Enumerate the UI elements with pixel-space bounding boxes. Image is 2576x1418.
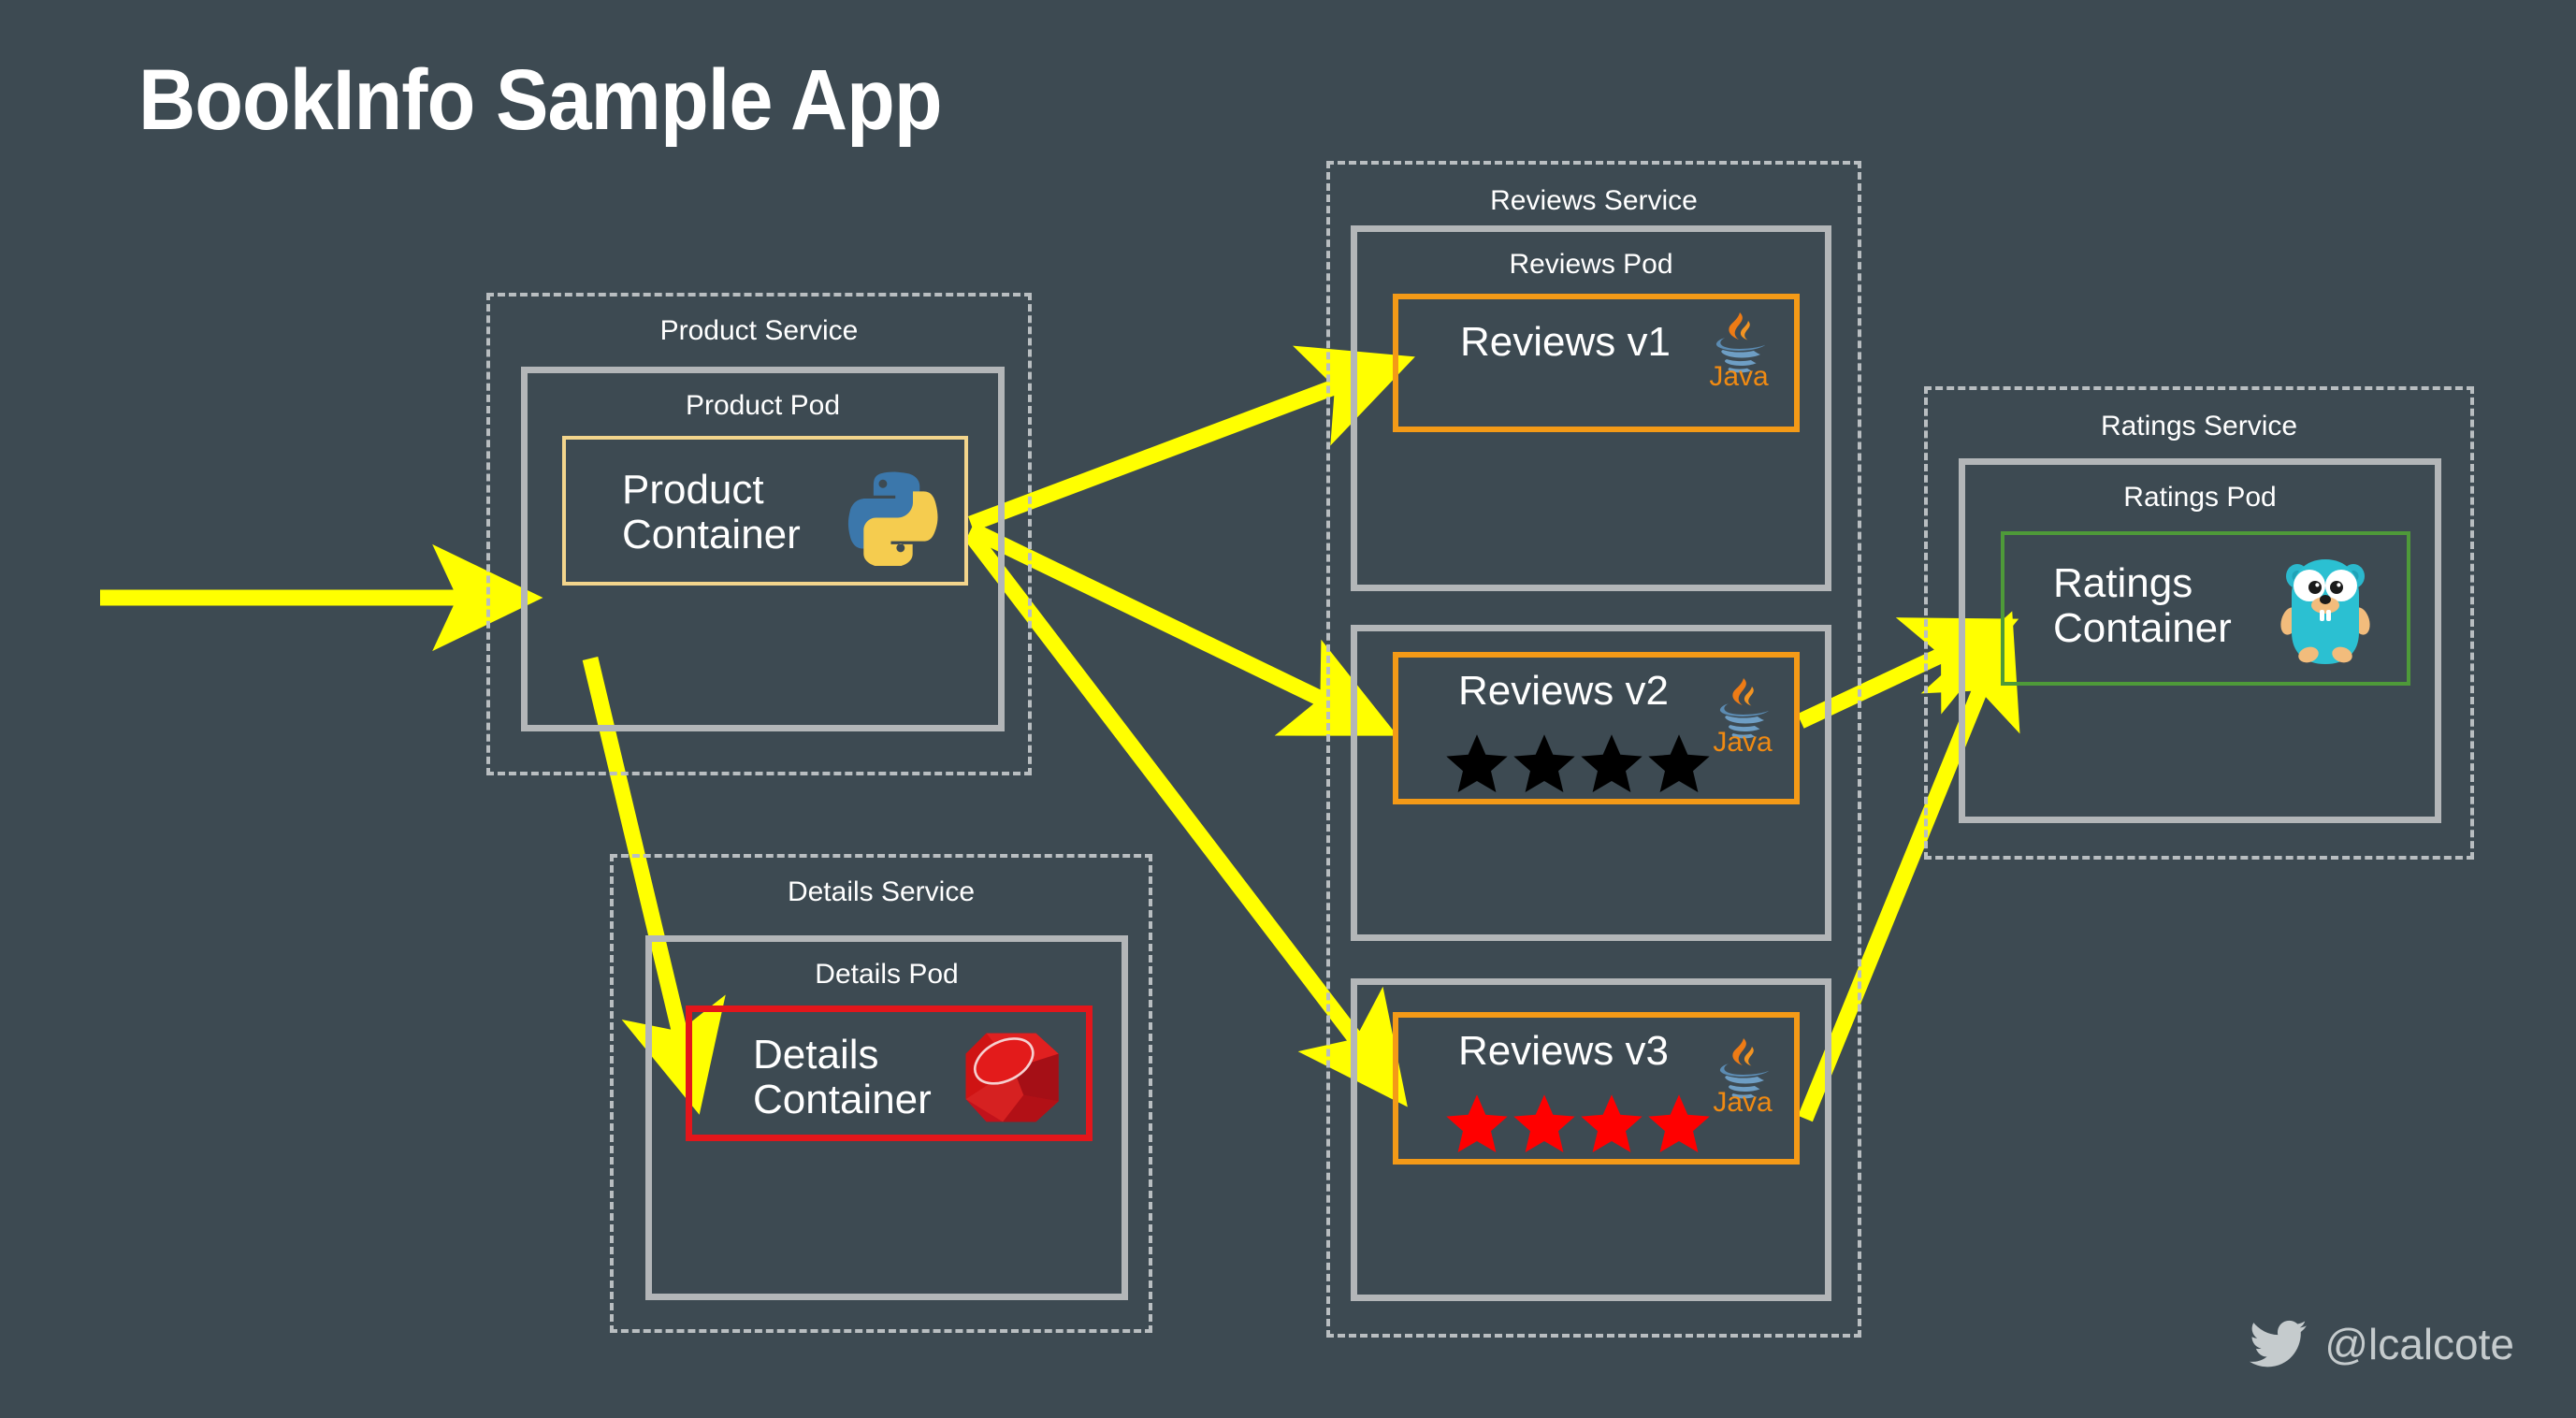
- python-logo-icon: [845, 465, 946, 566]
- service-details-label: Details Service: [614, 876, 1149, 908]
- arrow-product-to-reviews-v2: [971, 529, 1377, 726]
- stars-reviews-v2: [1443, 731, 1713, 798]
- star-icon: [1578, 731, 1645, 798]
- container-ratings-label: Ratings Container: [2053, 561, 2232, 650]
- pod-reviews-v1-label: Reviews Pod: [1357, 249, 1825, 281]
- service-ratings-label: Ratings Service: [1928, 411, 2470, 442]
- star-icon: [1443, 1091, 1511, 1158]
- java-logo-icon: Java: [1708, 674, 1777, 753]
- twitter-bird-icon: [2250, 1320, 2308, 1368]
- service-product-label: Product Service: [490, 315, 1028, 347]
- pod-product-label: Product Pod: [528, 390, 998, 422]
- star-icon: [1578, 1091, 1645, 1158]
- stars-reviews-v3: [1443, 1091, 1713, 1158]
- star-icon: [1443, 731, 1511, 798]
- star-icon: [1511, 1091, 1578, 1158]
- star-icon: [1645, 1091, 1713, 1158]
- pod-details-label: Details Pod: [652, 959, 1122, 991]
- container-ratings[interactable]: Ratings Container: [2001, 531, 2410, 686]
- container-product[interactable]: Product Container: [562, 436, 968, 586]
- ruby-logo-icon: [959, 1027, 1064, 1128]
- java-logo-icon: Java: [1708, 1035, 1777, 1113]
- svg-text:Java: Java: [1713, 1087, 1773, 1113]
- twitter-handle[interactable]: @lcalcote: [2250, 1319, 2514, 1369]
- go-gopher-icon: [2278, 548, 2373, 672]
- diagram-canvas: BookInfo Sample App Product Service Prod…: [0, 0, 2576, 1418]
- container-details[interactable]: Details Container: [686, 1006, 1093, 1141]
- service-reviews-label: Reviews Service: [1330, 185, 1858, 217]
- container-reviews-v1[interactable]: Reviews v1 Java: [1393, 294, 1800, 432]
- star-icon: [1645, 731, 1713, 798]
- pod-ratings-label: Ratings Pod: [1965, 482, 2435, 514]
- star-icon: [1511, 731, 1578, 798]
- svg-text:Java: Java: [1713, 727, 1773, 753]
- container-product-label: Product Container: [622, 468, 801, 557]
- page-title: BookInfo Sample App: [138, 51, 942, 150]
- container-reviews-v2[interactable]: Reviews v2 Java: [1393, 652, 1800, 804]
- svg-text:Java: Java: [1709, 361, 1769, 387]
- twitter-handle-text: @lcalcote: [2324, 1319, 2514, 1369]
- container-details-label: Details Container: [753, 1033, 932, 1121]
- java-logo-icon: Java: [1704, 309, 1773, 387]
- container-reviews-v3[interactable]: Reviews v3 Java: [1393, 1012, 1800, 1165]
